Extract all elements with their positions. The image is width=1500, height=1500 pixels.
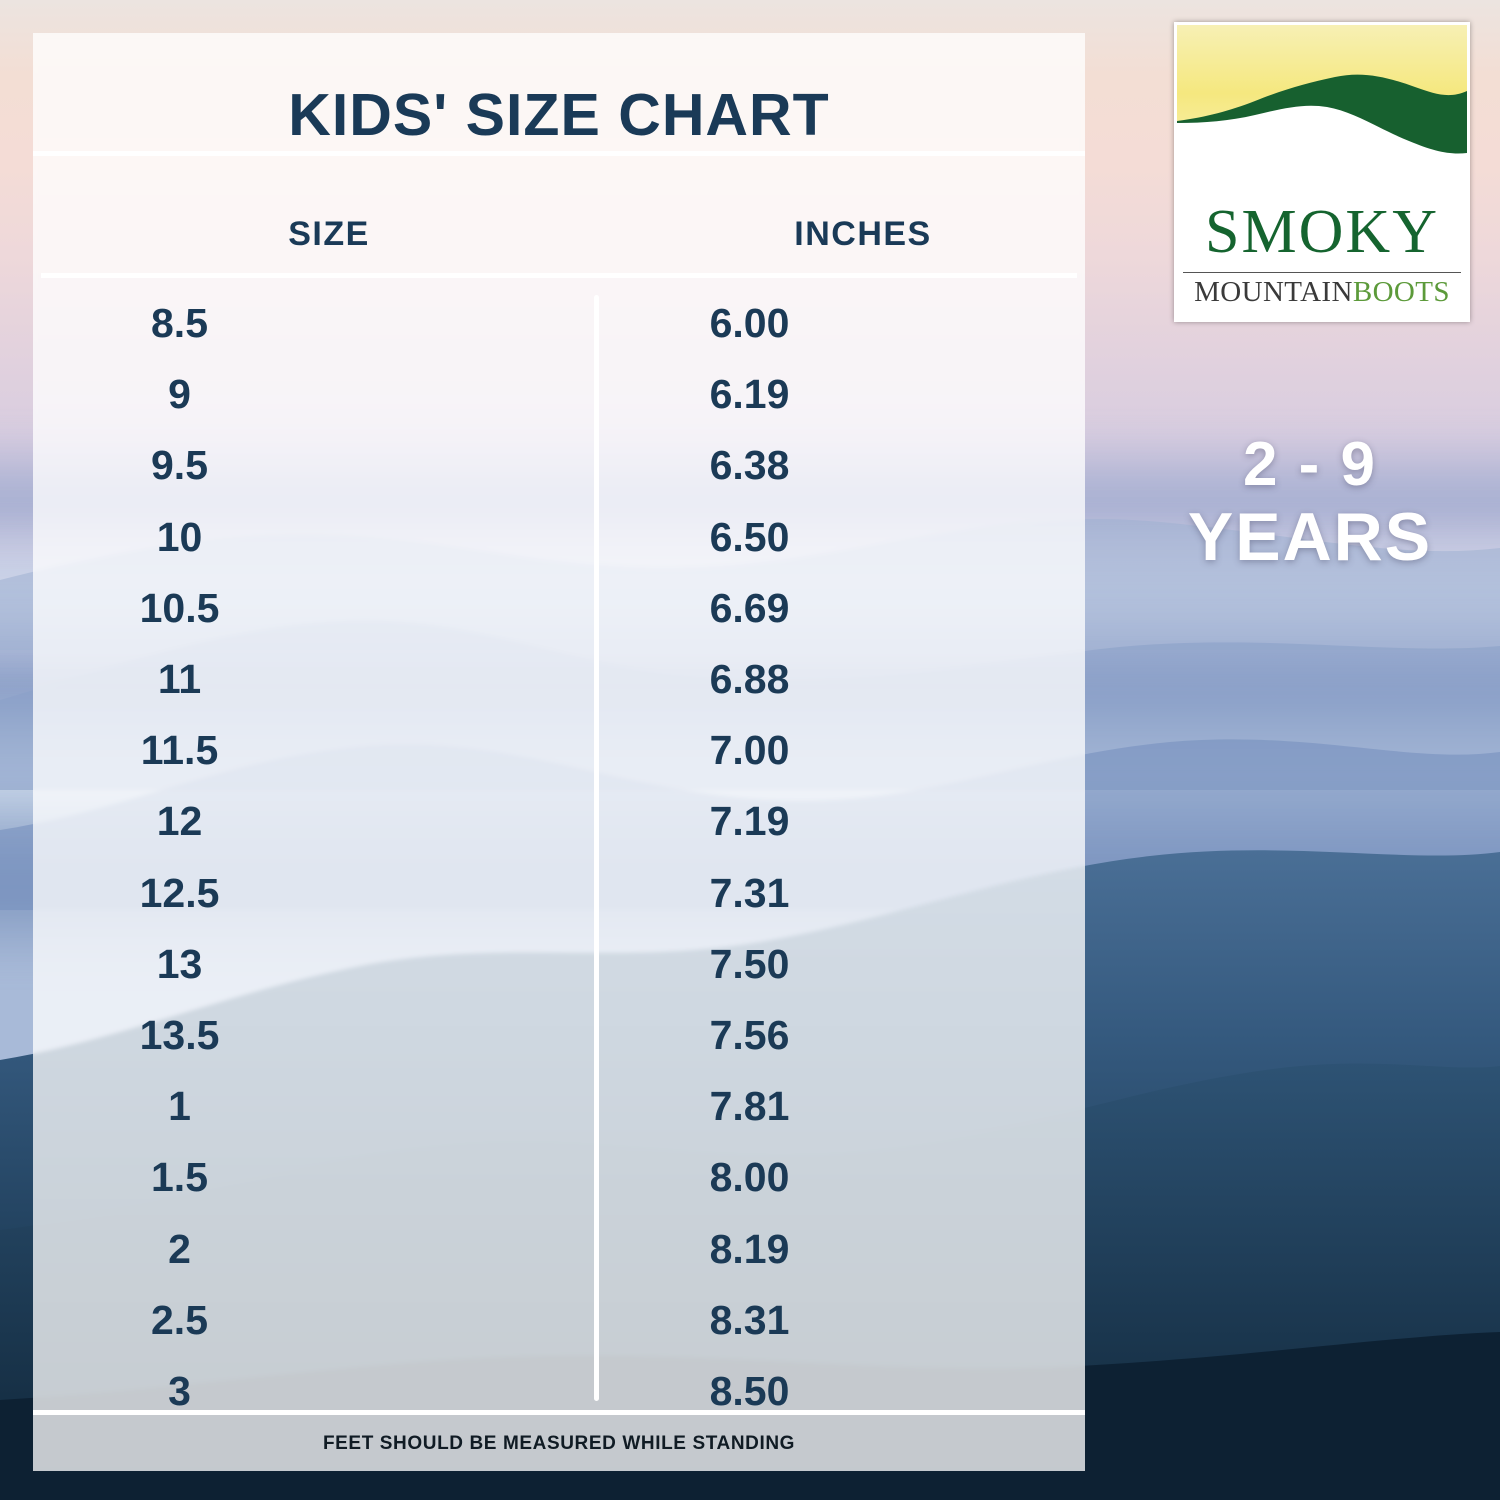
cell-size: 3 (33, 1368, 594, 1415)
cell-inches: 8.31 (594, 1297, 1085, 1344)
size-table-body: 8.5 6.00 9 6.19 9.5 6.38 10 6.50 10.5 6.… (33, 288, 1085, 1427)
mountain-sunrise-logo-icon (1177, 25, 1467, 205)
table-row: 9.5 6.38 (33, 430, 1085, 501)
cell-inches: 8.19 (594, 1226, 1085, 1273)
age-range-unit: YEARS (1120, 499, 1500, 575)
cell-size: 12.5 (33, 870, 594, 917)
table-row: 8.5 6.00 (33, 288, 1085, 359)
brand-logo: SMOKY MOUNTAINBOOTS (1174, 22, 1470, 322)
table-row: 12 7.19 (33, 786, 1085, 857)
cell-size: 13.5 (33, 1012, 594, 1059)
cell-size: 10.5 (33, 585, 594, 632)
table-row: 9 6.19 (33, 359, 1085, 430)
cell-size: 2.5 (33, 1297, 594, 1344)
table-row: 12.5 7.31 (33, 858, 1085, 929)
column-header-inches: INCHES (713, 215, 1013, 254)
age-range-badge: 2 - 9 YEARS (1120, 430, 1500, 576)
cell-inches: 7.00 (594, 727, 1085, 774)
cell-inches: 6.88 (594, 656, 1085, 703)
cell-inches: 6.00 (594, 300, 1085, 347)
cell-size: 13 (33, 941, 594, 988)
cell-inches: 6.19 (594, 371, 1085, 418)
table-row: 10 6.50 (33, 502, 1085, 573)
cell-size: 12 (33, 798, 594, 845)
cell-inches: 7.81 (594, 1083, 1085, 1130)
cell-inches: 6.50 (594, 514, 1085, 561)
size-chart-panel: KIDS' SIZE CHART SIZE INCHES 8.5 6.00 9 … (33, 33, 1085, 1471)
cell-size: 2 (33, 1226, 594, 1273)
cell-size: 8.5 (33, 300, 594, 347)
cell-size: 10 (33, 514, 594, 561)
page-title: KIDS' SIZE CHART (33, 81, 1085, 149)
logo-wordmark-smoky: SMOKY (1177, 201, 1467, 263)
divider-bottom (33, 1410, 1085, 1415)
cell-size: 1 (33, 1083, 594, 1130)
age-range-value: 2 - 9 (1120, 430, 1500, 499)
cell-size: 11.5 (33, 727, 594, 774)
divider-top (33, 151, 1085, 156)
table-row: 3 8.50 (33, 1356, 1085, 1427)
divider-header (41, 273, 1077, 278)
table-row: 11.5 7.00 (33, 715, 1085, 786)
logo-word-boots: BOOTS (1353, 276, 1450, 308)
table-row: 1 7.81 (33, 1071, 1085, 1142)
logo-divider (1183, 272, 1461, 273)
cell-inches: 8.50 (594, 1368, 1085, 1415)
cell-size: 1.5 (33, 1154, 594, 1201)
cell-inches: 7.31 (594, 870, 1085, 917)
logo-wordmark-sub: MOUNTAINBOOTS (1177, 278, 1467, 307)
cell-size: 9.5 (33, 442, 594, 489)
table-row: 13 7.50 (33, 929, 1085, 1000)
cell-inches: 8.00 (594, 1154, 1085, 1201)
table-row: 2.5 8.31 (33, 1285, 1085, 1356)
measurement-note: FEET SHOULD BE MEASURED WHILE STANDING (33, 1433, 1085, 1455)
cell-size: 9 (33, 371, 594, 418)
cell-inches: 7.56 (594, 1012, 1085, 1059)
cell-inches: 6.69 (594, 585, 1085, 632)
cell-inches: 7.19 (594, 798, 1085, 845)
column-header-size: SIZE (179, 215, 479, 254)
table-row: 11 6.88 (33, 644, 1085, 715)
cell-inches: 7.50 (594, 941, 1085, 988)
logo-word-mountain: MOUNTAIN (1194, 276, 1353, 308)
table-row: 2 8.19 (33, 1213, 1085, 1284)
cell-size: 11 (33, 656, 594, 703)
table-row: 13.5 7.56 (33, 1000, 1085, 1071)
cell-inches: 6.38 (594, 442, 1085, 489)
table-row: 10.5 6.69 (33, 573, 1085, 644)
table-row: 1.5 8.00 (33, 1142, 1085, 1213)
